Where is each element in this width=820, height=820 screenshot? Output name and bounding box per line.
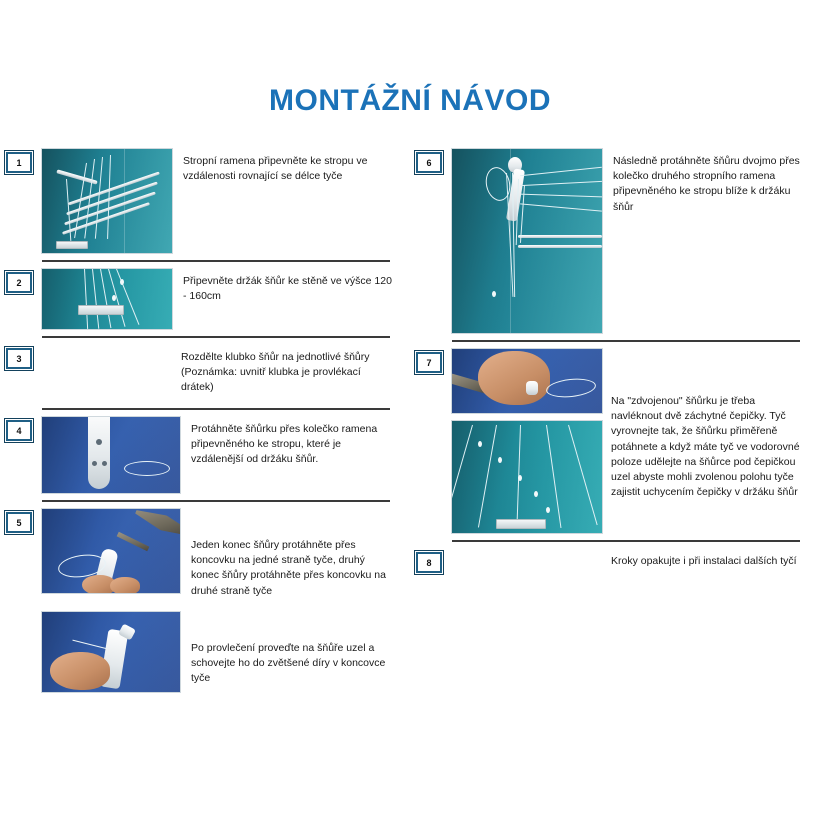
cord	[520, 167, 602, 177]
step-badge-label: 1	[16, 158, 21, 168]
cord	[84, 269, 88, 329]
photo-shading	[452, 149, 602, 333]
retaining-cap	[526, 381, 538, 395]
arm-pulley-photo	[41, 416, 181, 494]
step-badge-5: 5	[6, 512, 32, 533]
step-badge-label: 3	[16, 354, 21, 364]
hand	[110, 577, 140, 594]
step-badge-3: 3	[6, 348, 32, 369]
cords-with-caps-photo	[451, 420, 603, 534]
hand	[50, 652, 110, 690]
step-badge-6: 6	[416, 152, 442, 173]
step-badge-8: 8	[416, 552, 442, 573]
rod	[518, 235, 602, 238]
cap-bead	[546, 507, 550, 513]
step-badge-label: 2	[16, 278, 21, 288]
step-row-7: 7	[416, 342, 808, 540]
pulley-hole	[96, 439, 102, 445]
rod	[518, 245, 602, 248]
step-badge-label: 4	[16, 426, 21, 436]
cord-loop	[545, 376, 597, 399]
step-row-4: 4 Protáhněte šňůrku přes kolečko ramena …	[6, 410, 398, 500]
cord	[72, 640, 107, 650]
step-row-2: 2 Připevněte držák šňůr ke stěně ve výšc…	[6, 262, 398, 336]
step-badge-label: 8	[426, 558, 431, 568]
step-badge-label: 6	[426, 158, 431, 168]
ceiling-arms-photo	[41, 148, 173, 254]
cap-bead	[492, 291, 496, 297]
cord-holder-bracket	[496, 519, 546, 529]
step-caption-4: Protáhněte šňůrku přes kolečko ramena př…	[181, 416, 398, 468]
step-row-1: 1 Stropní ramena připevněte ke stropu ve…	[6, 142, 398, 260]
rod-endcap-pliers-photo	[41, 508, 181, 594]
step-caption-7: Na "zdvojenou" šňůrku je třeba navléknou…	[601, 348, 808, 501]
hand	[478, 351, 550, 405]
cap-bead	[518, 475, 522, 481]
step-badge-7: 7	[416, 352, 442, 373]
step-row-6: 6 Následně protáhněte šňůru d	[416, 142, 808, 340]
step-badge-2: 2	[6, 272, 32, 293]
step-badge-4: 4	[6, 420, 32, 441]
steps-column-right: 6 Následně protáhněte šňůru d	[416, 142, 808, 604]
photo-shading	[42, 417, 180, 493]
step-badge-1: 1	[6, 152, 32, 173]
step-caption-6: Následně protáhněte šňůru dvojmo přes ko…	[603, 148, 808, 215]
step-row-5b: Po provlečení proveďte na šňůře uzel a s…	[6, 605, 398, 699]
second-ceiling-arm-photo	[451, 148, 603, 334]
cord	[520, 194, 602, 198]
step-row-3: 3 Rozdělte klubko šňůr na jednotlivé šňů…	[6, 338, 398, 408]
step-row-8: 8 Kroky opakujte i při instalaci dalších…	[416, 542, 808, 604]
cap-bead	[498, 457, 502, 463]
cord	[451, 425, 473, 525]
steps-column-left: 1 Stropní ramena připevněte ke stropu ve…	[6, 142, 398, 699]
step-caption-5: Jeden konec šňůry protáhněte přes koncov…	[181, 508, 398, 599]
step-badge-label: 7	[426, 358, 431, 368]
cord	[568, 425, 598, 525]
cord	[520, 203, 602, 211]
cord	[116, 269, 139, 325]
step-badge-label: 5	[16, 518, 21, 528]
cord-holder-bracket	[78, 305, 124, 315]
step-caption-3: Rozdělte klubko šňůr na jednotlivé šňůry…	[171, 344, 398, 396]
cord	[520, 181, 602, 186]
cap-bead	[120, 279, 124, 285]
cap-bead	[112, 295, 116, 301]
cord	[108, 269, 125, 327]
pulley-hole	[92, 461, 97, 466]
cord-holder	[56, 241, 88, 249]
knot-in-endcap-photo	[41, 611, 181, 693]
pliers-icon	[133, 508, 181, 538]
cap-bead	[534, 491, 538, 497]
cord-loop	[124, 461, 170, 476]
step-caption-8: Kroky opakujte i při instalaci dalších t…	[601, 548, 808, 569]
cap-bead	[478, 441, 482, 447]
step-caption-1: Stropní ramena připevněte ke stropu ve v…	[173, 148, 398, 184]
ceiling-arm-body	[88, 416, 110, 489]
pliers-jaw	[117, 532, 150, 551]
cord-holder-photo	[41, 268, 173, 330]
photo-shading	[42, 269, 172, 329]
step-caption-2: Připevněte držák šňůr ke stěně ve výšce …	[173, 268, 398, 304]
step-row-5: 5 Jeden konec šňůry protáhněte přes konc…	[6, 502, 398, 605]
step-caption-5b: Po provlečení proveďte na šňůře uzel a s…	[181, 611, 398, 687]
cord	[92, 269, 99, 329]
pulley-hole	[102, 461, 107, 466]
page-title: MONTÁŽNÍ NÁVOD	[0, 84, 820, 118]
photo-shading	[452, 421, 602, 533]
cord	[95, 157, 103, 239]
cap-and-cord-photo	[451, 348, 603, 414]
